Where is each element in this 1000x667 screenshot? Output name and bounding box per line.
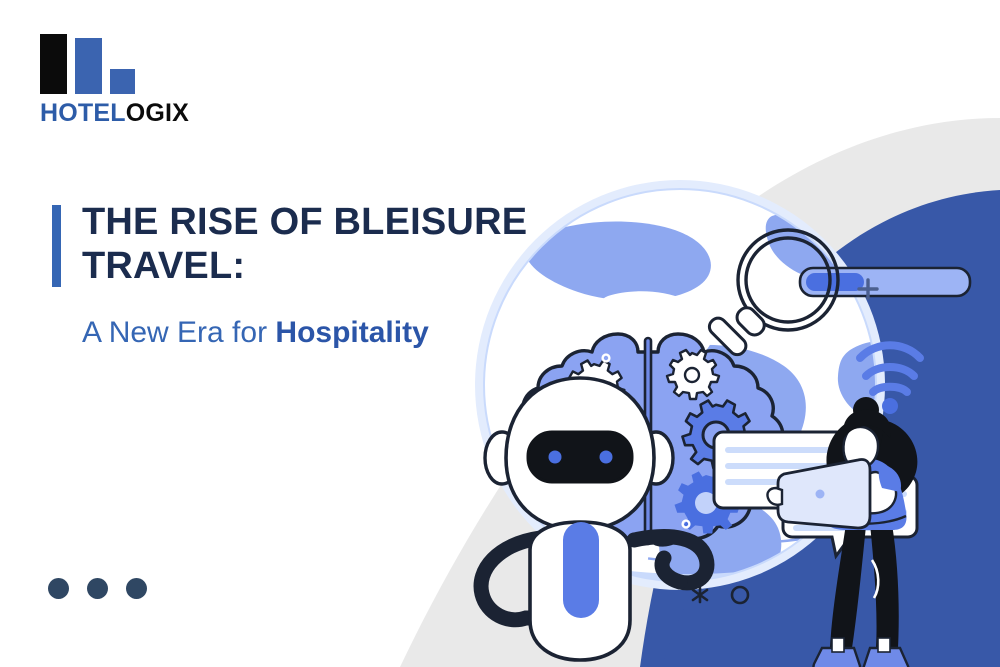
logo-wordmark: HOTELOGIX	[40, 101, 210, 126]
poster-canvas: HOTELOGIX THE RISE OF BLEISURE TRAVEL: A…	[0, 0, 1000, 667]
dot-3	[126, 578, 147, 599]
decorative-dots	[48, 578, 147, 599]
person-hand-on-tablet	[767, 488, 782, 505]
dot-2	[87, 578, 108, 599]
dot-1	[48, 578, 69, 599]
tablet-home-dot	[816, 490, 825, 499]
logo-wordmark-part2: OGIX	[126, 99, 189, 127]
logo-bar-blue	[75, 38, 102, 94]
person-leg-right	[870, 524, 899, 648]
sparkle-icon	[693, 588, 707, 602]
wifi-dot	[882, 398, 898, 414]
logo-wordmark-part1: HOTEL	[40, 99, 126, 127]
subtitle-prefix: A New Era for	[82, 316, 275, 349]
logo-bar-mark	[40, 34, 170, 94]
brand-logo[interactable]: HOTELOGIX	[40, 34, 210, 126]
robot-chest-panel	[563, 522, 599, 618]
logo-square-blue	[110, 69, 135, 94]
title-accent-bar	[52, 205, 61, 287]
ai-robot-globe-illustration	[380, 120, 1000, 667]
small-circle-decor	[732, 587, 748, 603]
robot-visor	[528, 432, 632, 482]
search-bar-fill	[806, 273, 864, 291]
robot-eye-left	[549, 451, 562, 464]
robot-eye-right	[600, 451, 613, 464]
person-sock-left	[832, 638, 844, 652]
search-bar[interactable]	[800, 268, 970, 296]
person-sock-right	[878, 638, 890, 652]
logo-bar-black	[40, 34, 67, 94]
